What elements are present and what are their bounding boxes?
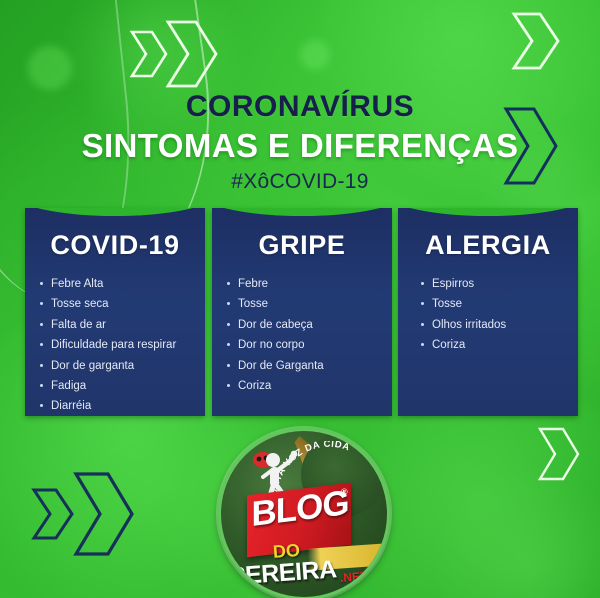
list-item: Tosse (226, 297, 384, 311)
logo-registered-mark: ® (341, 487, 348, 497)
symptom-list: Febre Alta Tosse seca Falta de ar Dificu… (25, 277, 205, 414)
chevron-right-icon (508, 10, 562, 72)
panel-title: ALERGIA (398, 208, 578, 261)
list-item: Falta de ar (39, 318, 197, 332)
chevron-right-double-icon (30, 468, 150, 560)
logo-domain-text: .NET (340, 569, 368, 585)
list-item: Dor de garganta (39, 359, 197, 373)
poster-headings: CORONAVÍRUS SINTOMAS E DIFERENÇAS #XôCOV… (0, 92, 600, 192)
symptom-list: Febre Tosse Dor de cabeça Dor no corpo D… (212, 277, 392, 393)
list-item: Tosse seca (39, 297, 197, 311)
chevron-right-double-icon (128, 18, 220, 90)
page-title: CORONAVÍRUS (0, 92, 600, 122)
list-item: Tosse (420, 297, 570, 311)
symptom-panel-covid: COVID-19 Febre Alta Tosse seca Falta de … (25, 208, 205, 416)
list-item: Dor de Garganta (226, 359, 384, 373)
page-subtitle: SINTOMAS E DIFERENÇAS (0, 129, 600, 162)
panel-title: GRIPE (212, 208, 392, 261)
list-item: Dor de cabeça (226, 318, 384, 332)
logo-connector-text: DO (272, 540, 300, 563)
list-item: Coriza (226, 379, 384, 393)
list-item: Fadiga (39, 379, 197, 393)
blog-do-pereira-logo[interactable]: O PORTA VOZ DA CIDADE! BLOG ® PEREIRA DO… (218, 428, 390, 598)
virus-spike (28, 46, 72, 90)
symptom-panel-alergia: ALERGIA Espirros Tosse Olhos irritados C… (398, 208, 578, 416)
list-item: Coriza (420, 338, 570, 352)
list-item: Febre Alta (39, 277, 197, 291)
hashtag-label: #XôCOVID-19 (0, 171, 600, 192)
list-item: Dificuldade para respirar (39, 338, 197, 352)
list-item: Olhos irritados (420, 318, 570, 332)
list-item: Febre (226, 277, 384, 291)
list-item: Dor no corpo (226, 338, 384, 352)
panel-title: COVID-19 (25, 208, 205, 261)
infographic-poster: CORONAVÍRUS SINTOMAS E DIFERENÇAS #XôCOV… (0, 0, 600, 598)
virus-spike (300, 40, 330, 70)
symptom-panel-gripe: GRIPE Febre Tosse Dor de cabeça Dor no c… (212, 208, 392, 416)
chevron-right-icon (535, 425, 581, 483)
list-item: Espirros (420, 277, 570, 291)
list-item: Diarréia (39, 399, 197, 413)
symptom-list: Espirros Tosse Olhos irritados Coriza (398, 277, 578, 353)
